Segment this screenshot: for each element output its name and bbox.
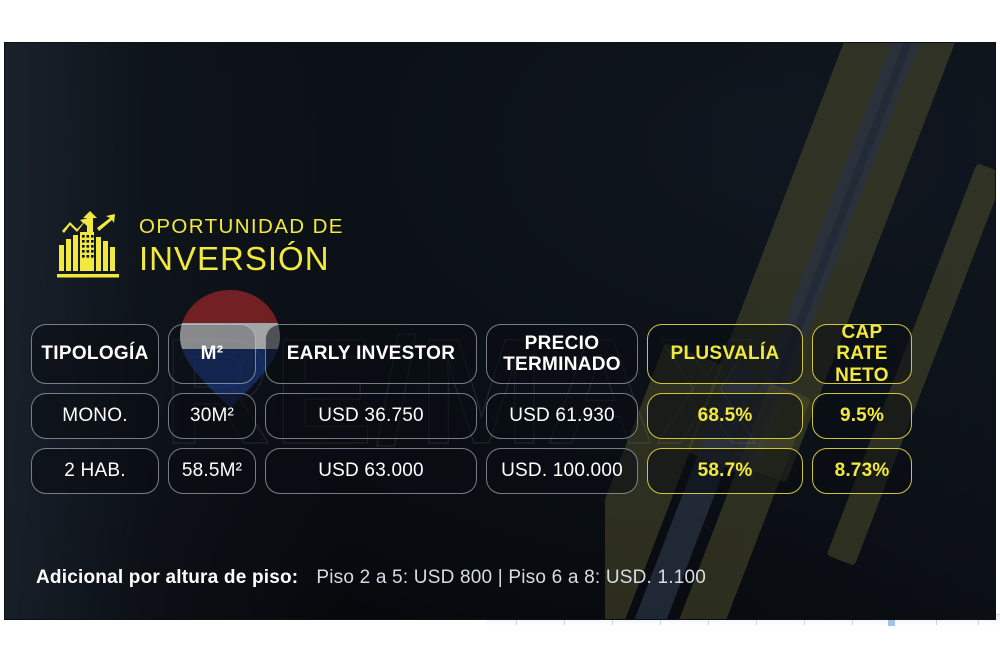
header-cell-m2: M² [168,324,256,384]
cell-m2: 58.5M² [168,448,256,494]
cell-precio-terminado: USD 61.930 [486,393,638,439]
floor-height-note-label: Adicional por altura de piso: [36,567,298,589]
table-row: MONO. 30M² USD 36.750 USD 61.930 68.5% 9… [31,393,979,439]
cell-tipologia: 2 HAB. [31,448,159,494]
heading-line-1: OPORTUNIDAD DE [139,217,344,238]
cell-precio-terminado: USD. 100.000 [486,448,638,494]
cell-plusvalia: 68.5% [647,393,803,439]
header-cell-tipologia: TIPOLOGÍA [31,324,159,384]
header-cell-cap-rate-neto: CAP RATE NETO [812,324,912,384]
header-cell-precio-terminado: PRECIO TERMINADO [486,324,638,384]
investment-growth-buildings-icon [57,211,121,281]
cell-plusvalia: 58.7% [647,448,803,494]
table-row: 2 HAB. 58.5M² USD 63.000 USD. 100.000 58… [31,448,979,494]
table-header-row: TIPOLOGÍA M² EARLY INVESTOR PRECIO TERMI… [31,324,979,384]
cell-cap-rate-neto: 8.73% [812,448,912,494]
floor-height-note: Adicional por altura de piso: Piso 2 a 5… [36,567,706,589]
heading-line-2: INVERSIÓN [139,242,344,275]
header-cell-plusvalia: PLUSVALÍA [647,324,803,384]
cell-early-investor: USD 36.750 [265,393,477,439]
cell-early-investor: USD 63.000 [265,448,477,494]
floor-height-note-value: Piso 2 a 5: USD 800 | Piso 6 a 8: USD. 1… [316,567,706,589]
cell-cap-rate-neto: 9.5% [812,393,912,439]
slide-heading: OPORTUNIDAD DE INVERSIÓN [57,211,344,281]
investment-opportunity-slide: RE/MAX [4,42,996,620]
cell-tipologia: MONO. [31,393,159,439]
header-cell-early-investor: EARLY INVESTOR [265,324,477,384]
pricing-table: TIPOLOGÍA M² EARLY INVESTOR PRECIO TERMI… [31,324,979,494]
screenshot-root: RE/MAX [0,0,1000,667]
cell-m2: 30M² [168,393,256,439]
